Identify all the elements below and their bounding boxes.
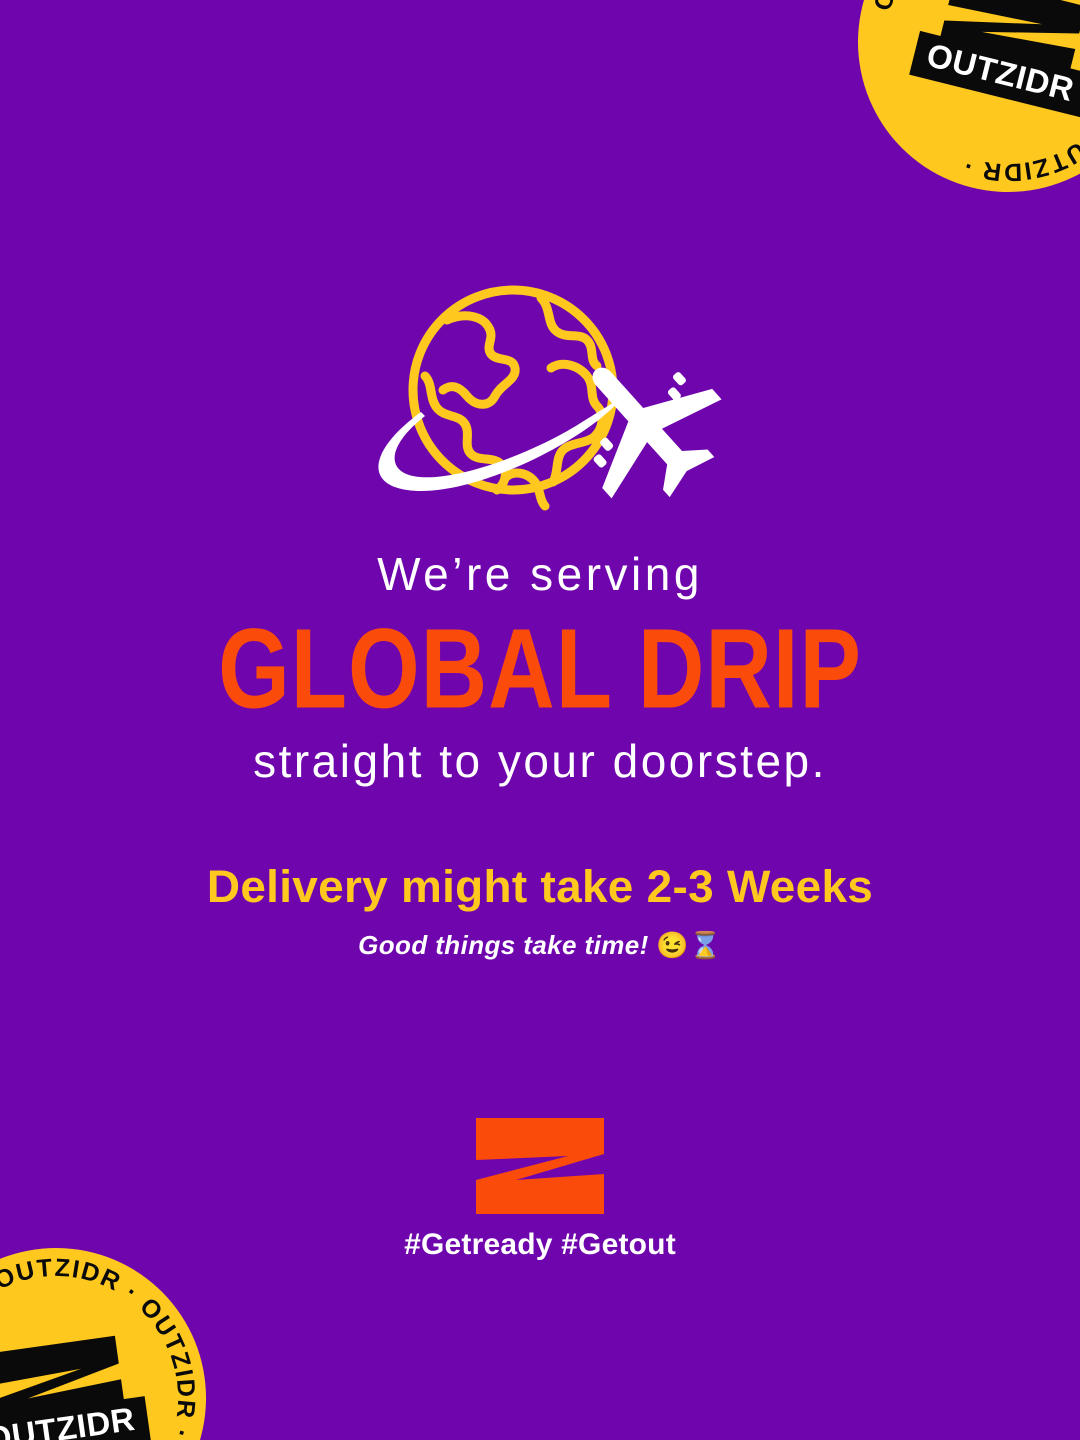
globe-airplane-icon bbox=[355, 272, 725, 522]
badge-center-lockup: OUTZIDR bbox=[0, 1331, 151, 1440]
subheadline-text: straight to your doorstep. bbox=[0, 735, 1080, 788]
delivery-notice: Delivery might take 2-3 Weeks bbox=[0, 860, 1080, 914]
outzidr-z-logo bbox=[476, 1118, 604, 1218]
eyebrow-text: We’re serving bbox=[0, 548, 1080, 601]
poster-canvas: OUTZIDR · OUTZIDR · OUTZIDR · OUTZIDR · … bbox=[0, 0, 1080, 1440]
tagline-text: Good things take time! bbox=[358, 930, 648, 960]
hourglass-icon: ⌛ bbox=[689, 930, 722, 960]
page-title: GLOBAL DRIP bbox=[22, 613, 1059, 726]
tagline-row: Good things take time! 😉⌛ bbox=[0, 930, 1080, 961]
wink-face-icon: 😉 bbox=[656, 930, 689, 960]
copy-block: We’re serving GLOBAL DRIP straight to yo… bbox=[0, 548, 1080, 961]
outzidr-badge-top-right: OUTZIDR · OUTZIDR · OUTZIDR · OUTZIDR · … bbox=[826, 0, 1080, 224]
